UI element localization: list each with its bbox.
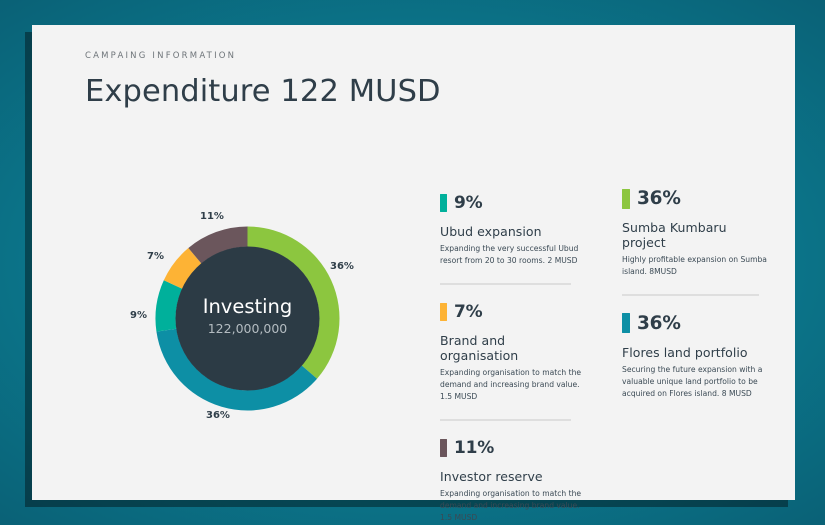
legend-percent: 36%	[637, 313, 681, 334]
legend-item-ubud-expansion[interactable]: 9% Ubud expansion Expanding the very suc…	[440, 193, 585, 267]
legend-title: Flores land portfolio	[622, 345, 767, 360]
legend-percent: 36%	[637, 188, 681, 209]
legend-description: Expanding organisation to match the dema…	[440, 367, 585, 403]
legend-item-flores-land-portfolio[interactable]: 36% Flores land portfolio Securing the f…	[622, 313, 767, 400]
legend-title: Sumba Kumbaru project	[622, 220, 767, 250]
legend-percent: 11%	[454, 438, 494, 458]
chart-label-flores-land-portfolio: 36%	[206, 410, 230, 421]
legend-column-left: 9% Ubud expansion Expanding the very suc…	[440, 193, 585, 524]
legend-description: Highly profitable expansion on Sumba isl…	[622, 254, 767, 278]
chart-label-sumba-kumbaru-project: 36%	[330, 261, 354, 272]
color-swatch-icon	[622, 313, 630, 333]
chart-label-ubud-expansion: 9%	[130, 310, 147, 321]
legend-title: Investor reserve	[440, 469, 585, 484]
legend-divider	[440, 419, 571, 421]
legend-header: 7%	[440, 302, 585, 322]
color-swatch-icon	[440, 303, 447, 321]
legend-title: Brand and organisation	[440, 333, 585, 363]
legend-item-brand-and-organisation[interactable]: 7% Brand and organisation Expanding orga…	[440, 302, 585, 403]
header: CAMPAING INFORMATION Expenditure 122 MUS…	[85, 51, 441, 109]
donut-inner-circle	[176, 247, 320, 391]
donut-chart-svg: Investing 122,000,000	[150, 221, 345, 416]
legend-description: Expanding organisation to match the dema…	[440, 488, 585, 524]
donut-chart: Investing 122,000,000 11% 7% 9% 36% 36%	[122, 195, 372, 435]
infographic-card: CAMPAING INFORMATION Expenditure 122 MUS…	[32, 25, 795, 500]
legend-percent: 7%	[454, 302, 482, 322]
chart-label-investor-reserve: 11%	[200, 211, 224, 222]
legend-description: Expanding the very successful Ubud resor…	[440, 243, 585, 267]
legend-divider	[440, 283, 571, 285]
legend-item-sumba-kumbaru-project[interactable]: 36% Sumba Kumbaru project Highly profita…	[622, 188, 767, 278]
eyebrow-label: CAMPAING INFORMATION	[85, 51, 441, 61]
legend-divider	[622, 294, 759, 296]
legend-column-right: 36% Sumba Kumbaru project Highly profita…	[622, 188, 767, 400]
donut-center-label: Investing	[203, 295, 293, 318]
legend-title: Ubud expansion	[440, 224, 585, 239]
legend-header: 36%	[622, 188, 767, 209]
legend-header: 36%	[622, 313, 767, 334]
legend-description: Securing the future expansion with a val…	[622, 364, 767, 400]
color-swatch-icon	[622, 189, 630, 209]
legend-header: 9%	[440, 193, 585, 213]
legend-percent: 9%	[454, 193, 482, 213]
chart-label-brand-and-organisation: 7%	[147, 251, 164, 262]
color-swatch-icon	[440, 194, 447, 212]
color-swatch-icon	[440, 439, 447, 457]
legend-header: 11%	[440, 438, 585, 458]
legend-item-investor-reserve[interactable]: 11% Investor reserve Expanding organisat…	[440, 438, 585, 524]
donut-center-value: 122,000,000	[208, 321, 288, 336]
page-title: Expenditure 122 MUSD	[85, 74, 441, 109]
